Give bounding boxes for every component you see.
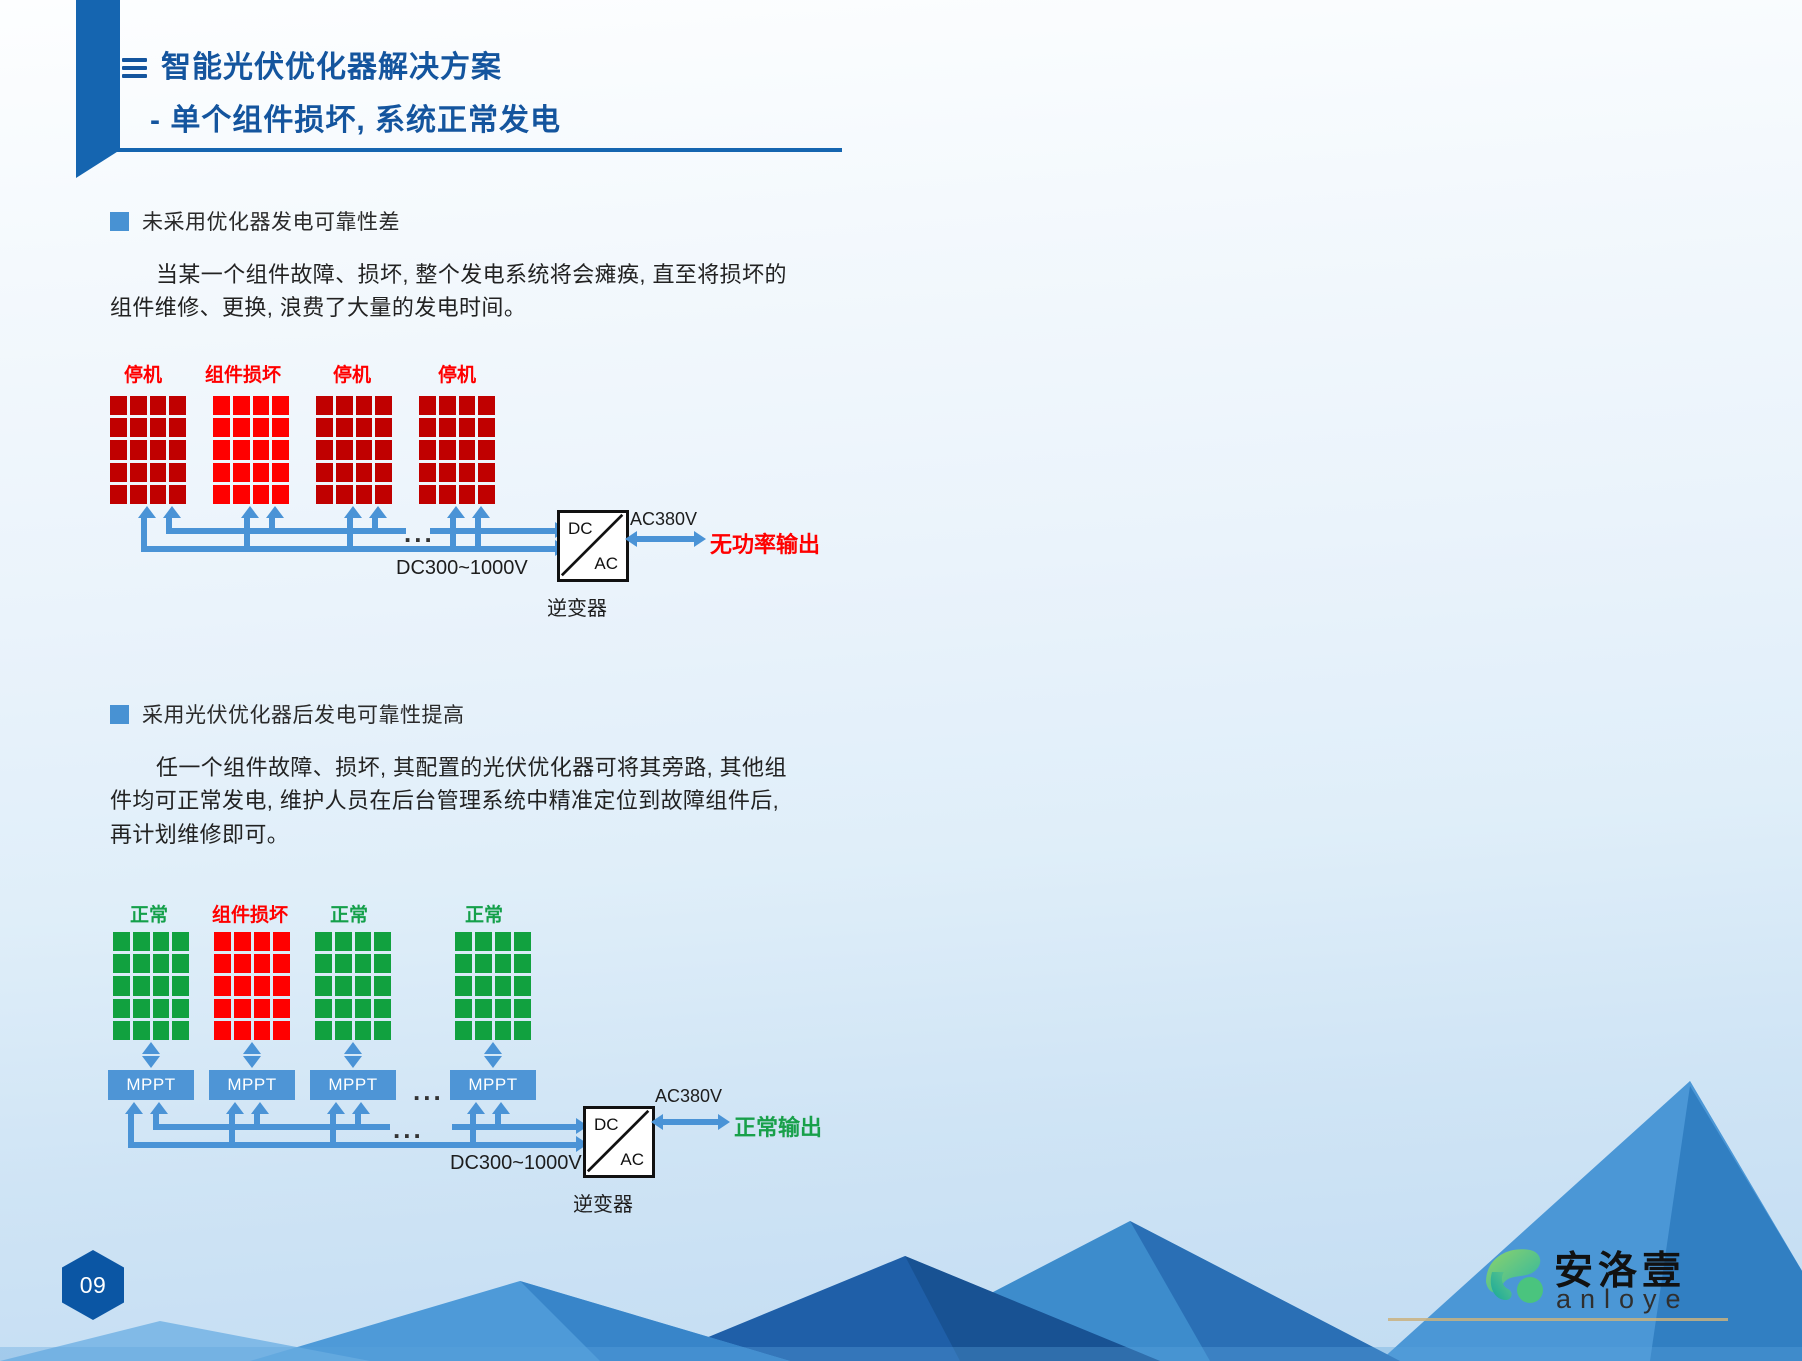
mppt-3-arrow-up [344,1042,362,1054]
solar-cell [253,485,270,504]
solar-cell [419,396,436,415]
solar-cell [355,1021,372,1040]
inverter-caption-2: 逆变器 [573,1188,633,1217]
output-status-label-2: 正常输出 [734,1110,822,1142]
solar-cell [375,418,392,437]
section-2-paragraph: 任一个组件故障、损坏, 其配置的光伏优化器可将其旁路, 其他组 件均可正常发电,… [110,751,810,851]
solar-cell [335,932,352,951]
hamburger-icon [122,58,147,78]
solar-cell [172,954,189,973]
logo-mark-icon [1478,1242,1550,1314]
solar-cell [316,418,333,437]
panel-3-status-label: 停机 [333,360,371,387]
solar-cell [335,1021,352,1040]
solar-cell [514,999,531,1018]
solar-cell [316,440,333,459]
solar-cell [214,932,231,951]
header-accent-flag [76,0,120,150]
solar-cell [374,932,391,951]
solar-cell [459,396,476,415]
slide-page: 智能光伏优化器解决方案 - 单个组件损坏, 系统正常发电 未采用优化器发电可靠性… [0,0,1802,1361]
solar-panel-4 [419,396,495,504]
mppt-2-arrow-up [243,1042,261,1054]
solar-cell [316,396,333,415]
solar-cell [356,485,373,504]
solar-cell [272,418,289,437]
bus-line-to-inverter [475,528,559,534]
solar-cell [110,485,127,504]
inverter-box-1: DC AC [557,510,629,582]
section-2-paragraph-line-2: 件均可正常发电, 维护人员在后台管理系统中精准定位到故障组件后, [110,788,779,813]
brand-logo: 安洛壹 anloye [1478,1240,1728,1320]
page-number: 09 [80,1272,107,1299]
solar-cell [153,932,170,951]
solar-cell [169,463,186,482]
solar-cell [169,418,186,437]
solar-cell [475,932,492,951]
solar-cell [130,418,147,437]
solar-cell [254,932,271,951]
mppt-1-arrow-down [142,1056,160,1068]
solar-cell [374,954,391,973]
ac-arrow-right-2 [718,1114,730,1130]
page-subtitle: - 单个组件损坏, 系统正常发电 [150,95,882,139]
solar-panel-8 [455,932,531,1040]
ac-wire-1 [636,536,696,542]
solar-cell [315,932,332,951]
solar-cell [374,1021,391,1040]
solar-cell [172,932,189,951]
mppt-4-arrow-down [484,1056,502,1068]
solar-cell [478,418,495,437]
solar-cell [253,396,270,415]
bus2-line-upper-right [452,1124,498,1130]
solar-cell [150,485,167,504]
ac-voltage-label-1: AC380V [630,509,697,530]
string-ellipsis-1: ... [404,520,435,546]
mppt-box-3[interactable]: MPPT [310,1070,396,1100]
panel-7-status-label: 正常 [330,900,368,927]
inverter-dc-label-1: DC [568,519,593,539]
solar-cell [375,440,392,459]
solar-cell [439,440,456,459]
solar-cell [253,440,270,459]
solar-cell [169,396,186,415]
solar-cell [273,1021,290,1040]
solar-cell [150,396,167,415]
solar-cell [375,485,392,504]
solar-cell [172,1021,189,1040]
solar-cell [113,976,130,995]
solar-cell [130,485,147,504]
solar-cell [419,463,436,482]
solar-cell [233,418,250,437]
footer-divider [1388,1318,1728,1321]
solar-cell [213,396,230,415]
solar-cell [475,954,492,973]
solar-cell [273,954,290,973]
ac-voltage-label-2: AC380V [655,1086,722,1107]
solar-cell [150,418,167,437]
solar-cell [133,999,150,1018]
solar-cell [172,976,189,995]
section-1-paragraph-line-1: 当某一个组件故障、损坏, 整个发电系统将会瘫痪, 直至将损坏的 [156,262,787,287]
solar-cell [254,1021,271,1040]
solar-cell [459,485,476,504]
section-2-paragraph-line-1: 任一个组件故障、损坏, 其配置的光伏优化器可将其旁路, 其他组 [156,755,787,780]
solar-cell [355,999,372,1018]
solar-cell [495,976,512,995]
bus-line-upper-right [430,528,480,534]
solar-cell [273,976,290,995]
solar-cell [355,954,372,973]
solar-cell [110,396,127,415]
solar-cell [169,440,186,459]
panel-4-status-label: 停机 [438,360,476,387]
bus2-line-upper-left [153,1124,390,1130]
solar-cell [233,440,250,459]
section-1-paragraph: 当某一个组件故障、损坏, 整个发电系统将会瘫痪, 直至将损坏的 组件维修、更换,… [110,258,810,325]
solar-cell [130,440,147,459]
solar-panel-7 [315,932,391,1040]
solar-cell [439,485,456,504]
mppt-box-4[interactable]: MPPT [450,1070,536,1100]
solar-cell [113,1021,130,1040]
solar-cell [133,954,150,973]
solar-cell [315,999,332,1018]
solar-cell [455,999,472,1018]
solar-cell [214,954,231,973]
solar-cell [110,440,127,459]
solar-cell [150,440,167,459]
solar-cell [253,418,270,437]
solar-cell [455,932,472,951]
solar-cell [234,1021,251,1040]
solar-panel-5 [113,932,189,1040]
solar-cell [335,999,352,1018]
solar-cell [233,485,250,504]
solar-cell [254,999,271,1018]
solar-cell [336,396,353,415]
solar-cell [375,463,392,482]
solar-cell [459,463,476,482]
solar-cell [478,463,495,482]
solar-cell [213,440,230,459]
solar-cell [439,396,456,415]
solar-cell [315,1021,332,1040]
mppt-2-arrow-down [243,1056,261,1068]
solar-cell [355,932,372,951]
solar-cell [478,396,495,415]
solar-cell [153,999,170,1018]
solar-panel-1 [110,396,186,504]
solar-cell [495,999,512,1018]
solar-cell [356,440,373,459]
solar-cell [130,396,147,415]
solar-cell [234,999,251,1018]
solar-cell [273,932,290,951]
solar-cell [374,999,391,1018]
solar-cell [254,954,271,973]
solar-cell [113,999,130,1018]
mppt-4-arrow-up [484,1042,502,1054]
solar-cell [455,976,472,995]
string-ellipsis-2: ... [393,1116,424,1142]
bus2-line-to-inverter [495,1124,580,1130]
bus2-line-lower [128,1142,580,1148]
dc-voltage-label-2: DC300~1000V [450,1152,582,1175]
solar-cell [316,485,333,504]
solar-cell [514,932,531,951]
solar-cell [475,976,492,995]
solar-cell [316,463,333,482]
solar-cell [150,463,167,482]
solar-cell [336,440,353,459]
square-bullet-icon-2 [110,705,129,724]
panel-8-status-label: 正常 [465,900,503,927]
solar-cell [356,463,373,482]
mppt-3-arrow-down [344,1056,362,1068]
output-status-label-1: 无功率输出 [710,527,820,559]
solar-cell [272,485,289,504]
mppt-box-2[interactable]: MPPT [209,1070,295,1100]
solar-cell [213,485,230,504]
solar-cell [514,976,531,995]
solar-cell [475,1021,492,1040]
solar-cell [133,932,150,951]
solar-cell [272,440,289,459]
solar-panel-2 [213,396,289,504]
solar-cell [375,396,392,415]
solar-cell [153,1021,170,1040]
mppt-box-1[interactable]: MPPT [108,1070,194,1100]
solar-cell [113,932,130,951]
solar-cell [213,463,230,482]
solar-cell [213,418,230,437]
solar-cell [495,954,512,973]
page-title: 智能光伏优化器解决方案 [161,50,502,85]
solar-cell [355,976,372,995]
ac-arrow-right-1 [694,531,706,547]
solar-cell [478,485,495,504]
solar-cell [374,976,391,995]
square-bullet-icon [110,212,129,231]
solar-cell [214,999,231,1018]
bus-line-upper-left [166,528,406,534]
solar-cell [169,485,186,504]
solar-cell [233,396,250,415]
solar-cell [335,954,352,973]
solar-panel-3 [316,396,392,504]
bus-line-lower [141,546,559,552]
section-without-optimizer: 未采用优化器发电可靠性差 当某一个组件故障、损坏, 整个发电系统将会瘫痪, 直至… [110,206,810,325]
solar-cell [439,463,456,482]
solar-cell [356,418,373,437]
solar-cell [356,396,373,415]
solar-cell [254,976,271,995]
inverter-dc-label-2: DC [594,1115,619,1135]
solar-cell [514,954,531,973]
solar-cell [335,976,352,995]
section-2-heading: 采用光伏优化器后发电可靠性提高 [110,699,810,729]
section-2-heading-text: 采用光伏优化器后发电可靠性提高 [142,699,465,729]
solar-cell [273,999,290,1018]
solar-cell [214,1021,231,1040]
solar-cell [234,932,251,951]
solar-cell [495,932,512,951]
solar-cell [272,463,289,482]
solar-cell [110,418,127,437]
solar-cell [459,440,476,459]
panel-6-status-label: 组件损坏 [212,900,288,927]
mppt-ellipsis: ... [413,1078,444,1104]
solar-cell [272,396,289,415]
solar-cell [419,440,436,459]
solar-cell [336,463,353,482]
solar-cell [253,463,270,482]
ac-wire-2 [662,1119,720,1125]
solar-cell [419,485,436,504]
section-1-heading-text: 未采用优化器发电可靠性差 [142,206,400,236]
solar-cell [172,999,189,1018]
section-with-optimizer: 采用光伏优化器后发电可靠性提高 任一个组件故障、损坏, 其配置的光伏优化器可将其… [110,699,810,851]
solar-cell [336,418,353,437]
solar-cell [495,1021,512,1040]
solar-cell [133,976,150,995]
dc-voltage-label-1: DC300~1000V [396,557,528,580]
inverter-ac-label-2: AC [620,1150,644,1170]
solar-cell [514,1021,531,1040]
inverter-box-2: DC AC [583,1106,655,1178]
solar-cell [459,418,476,437]
logo-english-text: anloye [1556,1284,1690,1315]
solar-panel-6 [214,932,290,1040]
solar-cell [133,1021,150,1040]
solar-cell [110,463,127,482]
solar-cell [214,976,231,995]
page-title-block: 智能光伏优化器解决方案 - 单个组件损坏, 系统正常发电 [122,50,882,139]
panel-1-status-label: 停机 [124,360,162,387]
page-number-badge: 09 [62,1250,124,1320]
solar-cell [130,463,147,482]
solar-cell [234,954,251,973]
solar-cell [455,954,472,973]
section-1-paragraph-line-2: 组件维修、更换, 浪费了大量的发电时间。 [110,295,526,320]
inverter-ac-label-1: AC [594,554,618,574]
solar-cell [315,976,332,995]
solar-cell [478,440,495,459]
solar-cell [153,976,170,995]
mppt-1-arrow-up [142,1042,160,1054]
solar-cell [439,418,456,437]
solar-cell [455,1021,472,1040]
solar-cell [419,418,436,437]
solar-cell [475,999,492,1018]
solar-cell [315,954,332,973]
panel-5-status-label: 正常 [130,900,168,927]
solar-cell [153,954,170,973]
panel-2-status-label: 组件损坏 [205,360,281,387]
title-underline [76,148,842,152]
section-2-paragraph-line-3: 再计划维修即可。 [110,822,289,847]
section-1-heading: 未采用优化器发电可靠性差 [110,206,810,236]
solar-cell [113,954,130,973]
inverter-caption-1: 逆变器 [547,592,607,621]
solar-cell [234,976,251,995]
solar-cell [336,485,353,504]
solar-cell [233,463,250,482]
